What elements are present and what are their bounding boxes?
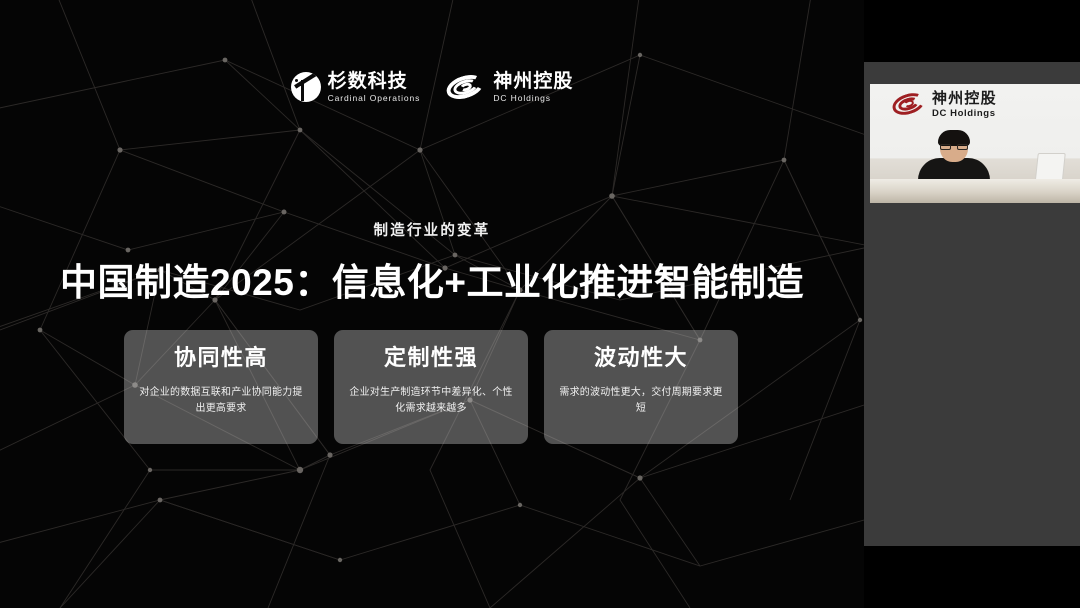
slide-eyebrow: 制造行业的变革: [0, 219, 864, 240]
backdrop-logo-cn: 神州控股: [932, 91, 997, 106]
presenter-video-feed[interactable]: 神州控股 DC Holdings: [870, 84, 1080, 203]
backdrop-dc-holdings-logo: 神州控股 DC Holdings: [892, 91, 997, 119]
panel-top-letterbox: [864, 0, 1080, 62]
dc-swirl-logo-icon: [446, 73, 486, 101]
feature-card: 定制性强 企业对生产制造环节中差异化、个性化需求越来越多: [334, 330, 528, 444]
feature-card-description: 对企业的数据互联和产业协同能力提出更高要求: [137, 385, 305, 416]
cardinal-circle-logo-icon: [291, 72, 321, 102]
panel-bottom-letterbox: [864, 546, 1080, 608]
dc-logo-text: 神州控股 DC Holdings: [493, 72, 573, 103]
cardinal-logo-cn: 杉数科技: [328, 72, 421, 91]
feature-card-description: 企业对生产制造环节中差异化、个性化需求越来越多: [347, 385, 515, 416]
feature-card-list: 协同性高 对企业的数据互联和产业协同能力提出更高要求 定制性强 企业对生产制造环…: [124, 330, 740, 444]
logo-dc-holdings: 神州控股 DC Holdings: [446, 72, 573, 103]
dc-logo-en: DC Holdings: [493, 94, 573, 103]
feature-card-title: 波动性大: [594, 347, 688, 369]
cardinal-logo-en: Cardinal Operations: [328, 94, 421, 103]
slide-header-logos: 杉数科技 Cardinal Operations 神州控股 DC Holding…: [0, 72, 864, 103]
feature-card-title: 定制性强: [384, 347, 478, 369]
backdrop-logo-en: DC Holdings: [932, 109, 997, 119]
feature-card-description: 需求的波动性更大，交付周期要求更短: [557, 385, 725, 416]
video-panel[interactable]: 神州控股 DC Holdings: [864, 62, 1080, 546]
feature-card-title: 协同性高: [174, 347, 268, 369]
feature-card: 波动性大 需求的波动性更大，交付周期要求更短: [544, 330, 738, 444]
feature-card: 协同性高 对企业的数据互联和产业协同能力提出更高要求: [124, 330, 318, 444]
screen-root: 杉数科技 Cardinal Operations 神州控股 DC Holding…: [0, 0, 1080, 608]
presentation-slide: 杉数科技 Cardinal Operations 神州控股 DC Holding…: [0, 0, 864, 608]
desk-surface: [870, 179, 1080, 203]
slide-title: 中国制造2025：信息化+工业化推进智能制造: [0, 252, 864, 306]
presenter-glasses-icon: [940, 144, 968, 150]
logo-cardinal-operations: 杉数科技 Cardinal Operations: [291, 72, 421, 103]
cardinal-logo-text: 杉数科技 Cardinal Operations: [328, 72, 421, 103]
backdrop-logo-text: 神州控股 DC Holdings: [932, 91, 997, 119]
dc-swirl-logo-icon: [892, 92, 926, 117]
dc-logo-cn: 神州控股: [493, 72, 573, 91]
